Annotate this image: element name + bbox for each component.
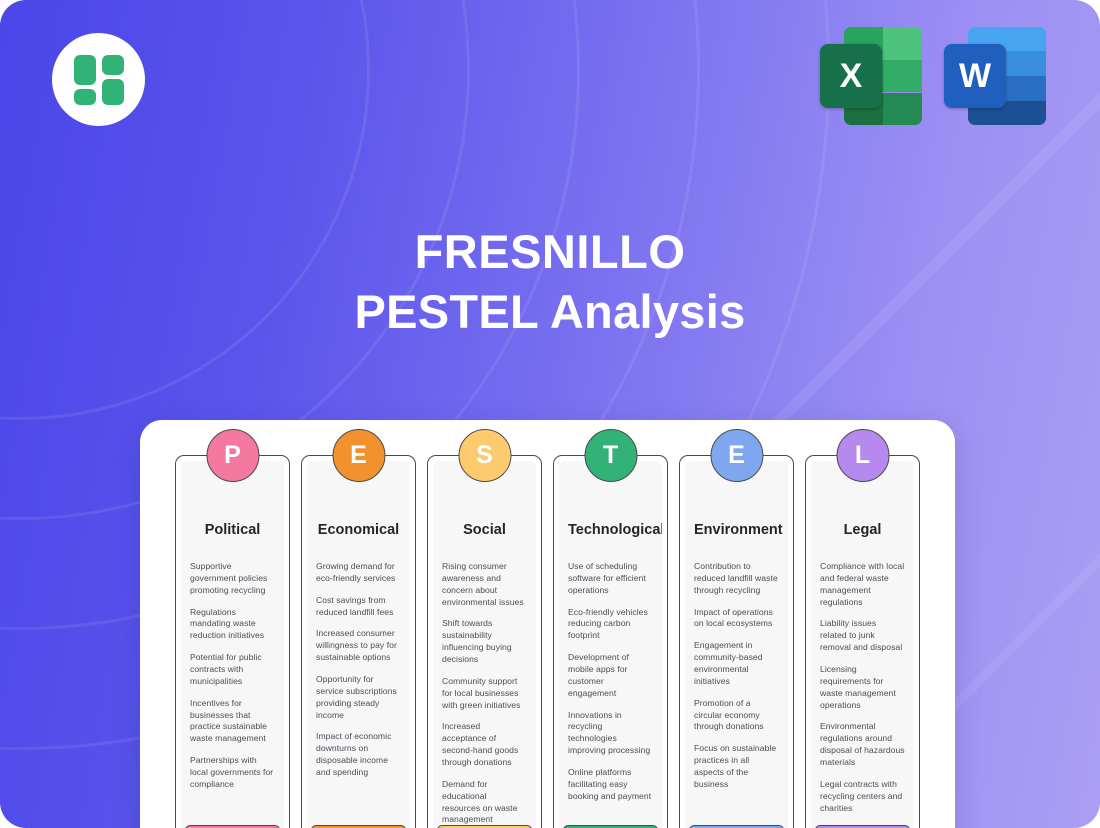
pestel-card-body: LegalCompliance with local and federal w…: [811, 461, 914, 828]
pestel-columns: PoliticalSupportive government policies …: [175, 455, 920, 828]
pestel-card-heading: Environment: [694, 522, 779, 538]
pestel-bullet: Demand for educational resources on wast…: [442, 779, 527, 828]
pestel-bullet: Partnerships with local governments for …: [190, 755, 275, 791]
title-line-1: FRESNILLO: [0, 222, 1100, 282]
pestel-bullet: Promotion of a circular economy through …: [694, 698, 779, 734]
pestel-bullet: Increased consumer willingness to pay fo…: [316, 628, 401, 664]
pestel-card-social[interactable]: SocialRising consumer awareness and conc…: [427, 455, 542, 828]
pestel-card-body: TechnologicalUse of scheduling software …: [559, 461, 662, 828]
pestel-bullet: Impact of operations on local ecosystems: [694, 607, 779, 631]
pestel-bullet: Impact of economic downturns on disposab…: [316, 731, 401, 778]
pestel-bullet: Licensing requirements for waste managem…: [820, 664, 905, 711]
pestel-letter-badge: L: [836, 429, 889, 482]
pestel-panel: PoliticalSupportive government policies …: [140, 420, 955, 828]
pestel-bullet: Growing demand for eco-friendly services: [316, 561, 401, 585]
pestel-bullet: Development of mobile apps for customer …: [568, 652, 653, 699]
pestel-bullet-list: Supportive government policies promoting…: [190, 561, 275, 791]
pestel-bullet: Increased acceptance of second-hand good…: [442, 721, 527, 768]
pestel-bullet: Liability issues related to junk removal…: [820, 618, 905, 654]
page-title: FRESNILLO PESTEL Analysis: [0, 222, 1100, 342]
pestel-bullet: Shift towards sustainability influencing…: [442, 618, 527, 665]
pestel-card-heading: Economical: [316, 522, 401, 538]
pestel-card-body: SocialRising consumer awareness and conc…: [433, 461, 536, 828]
pestel-card-heading: Political: [190, 522, 275, 538]
pestel-card-body: PoliticalSupportive government policies …: [181, 461, 284, 828]
word-badge-letter: W: [944, 44, 1006, 108]
pestel-card-political[interactable]: PoliticalSupportive government policies …: [175, 455, 290, 828]
pestel-letter-badge: T: [584, 429, 637, 482]
pestel-bullet: Eco-friendly vehicles reducing carbon fo…: [568, 607, 653, 643]
pestel-bullet: Supportive government policies promoting…: [190, 561, 275, 597]
pestel-bullet: Potential for public contracts with muni…: [190, 652, 275, 688]
pestel-bullet: Compliance with local and federal waste …: [820, 561, 905, 608]
pestel-letter-badge: S: [458, 429, 511, 482]
pestel-letter-badge: E: [332, 429, 385, 482]
pestel-bullet: Regulations mandating waste reduction in…: [190, 607, 275, 643]
app-logo[interactable]: [52, 33, 145, 126]
pestel-bullet: Rising consumer awareness and concern ab…: [442, 561, 527, 608]
pestel-card-technological[interactable]: TechnologicalUse of scheduling software …: [553, 455, 668, 828]
grid-logo-icon: [74, 55, 124, 105]
pestel-card-heading: Legal: [820, 522, 905, 538]
pestel-card-economical[interactable]: EconomicalGrowing demand for eco-friendl…: [301, 455, 416, 828]
pestel-card-heading: Technological: [568, 522, 653, 538]
excel-icon[interactable]: X: [820, 27, 922, 125]
pestel-card-legal[interactable]: LegalCompliance with local and federal w…: [805, 455, 920, 828]
pestel-card-body: EconomicalGrowing demand for eco-friendl…: [307, 461, 410, 828]
pestel-bullet: Opportunity for service subscriptions pr…: [316, 674, 401, 721]
pestel-bullet: Focus on sustainable practices in all as…: [694, 743, 779, 790]
slide-canvas: X W FRESNILLO PESTEL Analysis PoliticalS…: [0, 0, 1100, 828]
pestel-bullet: Cost savings from reduced landfill fees: [316, 595, 401, 619]
pestel-bullet-list: Growing demand for eco-friendly services…: [316, 561, 401, 779]
pestel-bullet: Incentives for businesses that practice …: [190, 698, 275, 745]
pestel-bullet: Community support for local businesses w…: [442, 676, 527, 712]
excel-badge-letter: X: [820, 44, 882, 108]
pestel-bullet: Use of scheduling software for efficient…: [568, 561, 653, 597]
pestel-card-environment[interactable]: EnvironmentContribution to reduced landf…: [679, 455, 794, 828]
pestel-bullet: Online platforms facilitating easy booki…: [568, 767, 653, 803]
pestel-letter-badge: E: [710, 429, 763, 482]
pestel-bullet: Innovations in recycling technologies im…: [568, 710, 653, 757]
pestel-letter-badge: P: [206, 429, 259, 482]
pestel-bullet-list: Rising consumer awareness and concern ab…: [442, 561, 527, 828]
word-icon[interactable]: W: [944, 27, 1046, 125]
pestel-bullet: Environmental regulations around disposa…: [820, 721, 905, 768]
pestel-bullet-list: Contribution to reduced landfill waste t…: [694, 561, 779, 791]
pestel-bullet: Engagement in community-based environmen…: [694, 640, 779, 687]
pestel-card-body: EnvironmentContribution to reduced landf…: [685, 461, 788, 828]
pestel-card-heading: Social: [442, 522, 527, 538]
pestel-bullet: Contribution to reduced landfill waste t…: [694, 561, 779, 597]
pestel-bullet-list: Compliance with local and federal waste …: [820, 561, 905, 814]
pestel-bullet: Legal contracts with recycling centers a…: [820, 779, 905, 815]
title-line-2: PESTEL Analysis: [0, 282, 1100, 342]
pestel-bullet-list: Use of scheduling software for efficient…: [568, 561, 653, 803]
